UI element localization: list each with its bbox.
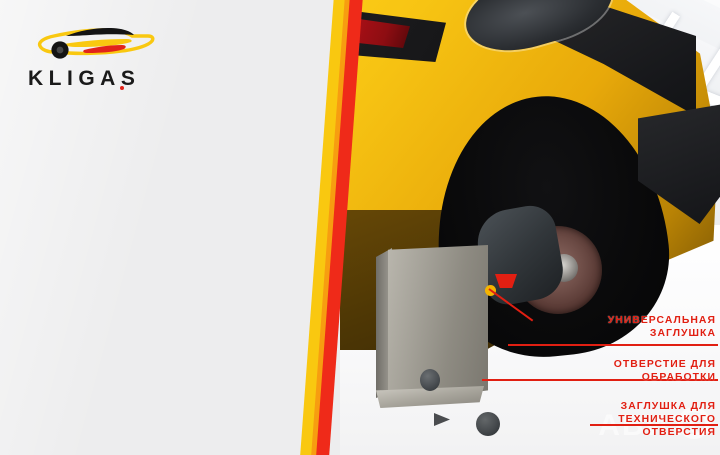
sports-car-silhouette-icon — [30, 24, 156, 68]
callout-tech-hole-plug: ЗАГЛУШКА ДЛЯ ТЕХНИЧЕСКОГО ОТВЕРСТИЯ — [560, 400, 716, 440]
brand-logo[interactable]: KLIGAS — [24, 24, 184, 96]
product-photo: АВИТО — [338, 0, 720, 455]
installed-plug-grommet — [420, 369, 440, 391]
poster-canvas: АВИТО УНИВЕРСАЛЬНАЯ ЗАГЛУШКА ОТВЕРСТИЕ Д… — [0, 0, 720, 455]
leader-line-universal-plug — [508, 344, 718, 346]
logo-accent-dot — [120, 86, 124, 90]
pointer-arrow-icon — [434, 413, 450, 426]
sill-plug-sample — [338, 0, 720, 455]
callout-treatment-hole: ОТВЕРСТИЕ ДЛЯ ОБРАБОТКИ — [560, 358, 716, 384]
callout-universal-plug: УНИВЕРСАЛЬНАЯ ЗАГЛУШКА — [560, 314, 716, 340]
loose-plug-grommet — [476, 412, 500, 436]
callout-marker-tab — [495, 274, 517, 288]
